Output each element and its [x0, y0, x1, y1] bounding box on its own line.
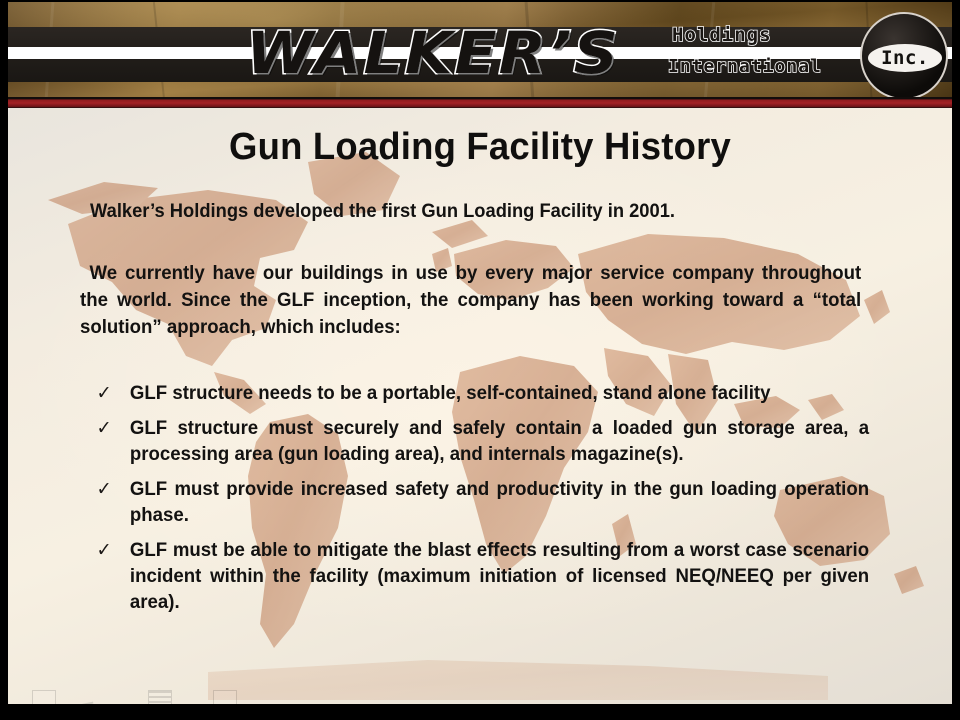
slide-header-banner: WALKER’S Holdings International Inc.: [8, 2, 952, 100]
company-wordmark: WALKER’S: [168, 20, 698, 86]
page-title: Gun Loading Facility History: [27, 124, 933, 170]
header-accent-band: [8, 97, 952, 108]
slide-body: Gun Loading Facility History Walker’s Ho…: [8, 108, 952, 704]
body-paragraph: We currently have our buildings in use b…: [80, 260, 861, 341]
list-item: ✓ GLF must be able to mitigate the blast…: [86, 537, 869, 615]
list-item-label: GLF structure must securely and safely c…: [130, 417, 869, 465]
list-item: ✓ GLF structure must securely and safely…: [86, 415, 869, 467]
list-item-label: GLF must be able to mitigate the blast e…: [130, 539, 869, 613]
check-icon: ✓: [94, 381, 115, 405]
slide-bottom-border: [0, 704, 960, 720]
list-item-label: GLF must provide increased safety and pr…: [130, 478, 869, 526]
list-item: ✓ GLF must provide increased safety and …: [86, 476, 869, 528]
tagline-line-2: International: [668, 56, 822, 77]
bullet-list: ✓ GLF structure needs to be a portable, …: [86, 380, 906, 624]
list-item: ✓ GLF structure needs to be a portable, …: [86, 380, 869, 406]
company-tagline: Holdings International: [668, 22, 868, 86]
check-icon: ✓: [94, 416, 115, 440]
tagline-line-1: Holdings: [672, 24, 772, 46]
list-item-label: GLF structure needs to be a portable, se…: [130, 382, 771, 404]
badge-label: Inc.: [868, 44, 942, 72]
presentation-slide: WALKER’S Holdings International Inc.: [0, 0, 960, 720]
slide-content: Gun Loading Facility History Walker’s Ho…: [8, 108, 952, 704]
badge-ellipse: Inc.: [868, 44, 942, 72]
inc-circle-badge-icon: Inc.: [860, 12, 948, 100]
check-icon: ✓: [94, 477, 115, 501]
check-icon: ✓: [94, 538, 115, 562]
intro-statement: Walker’s Holdings developed the first Gu…: [90, 198, 833, 224]
